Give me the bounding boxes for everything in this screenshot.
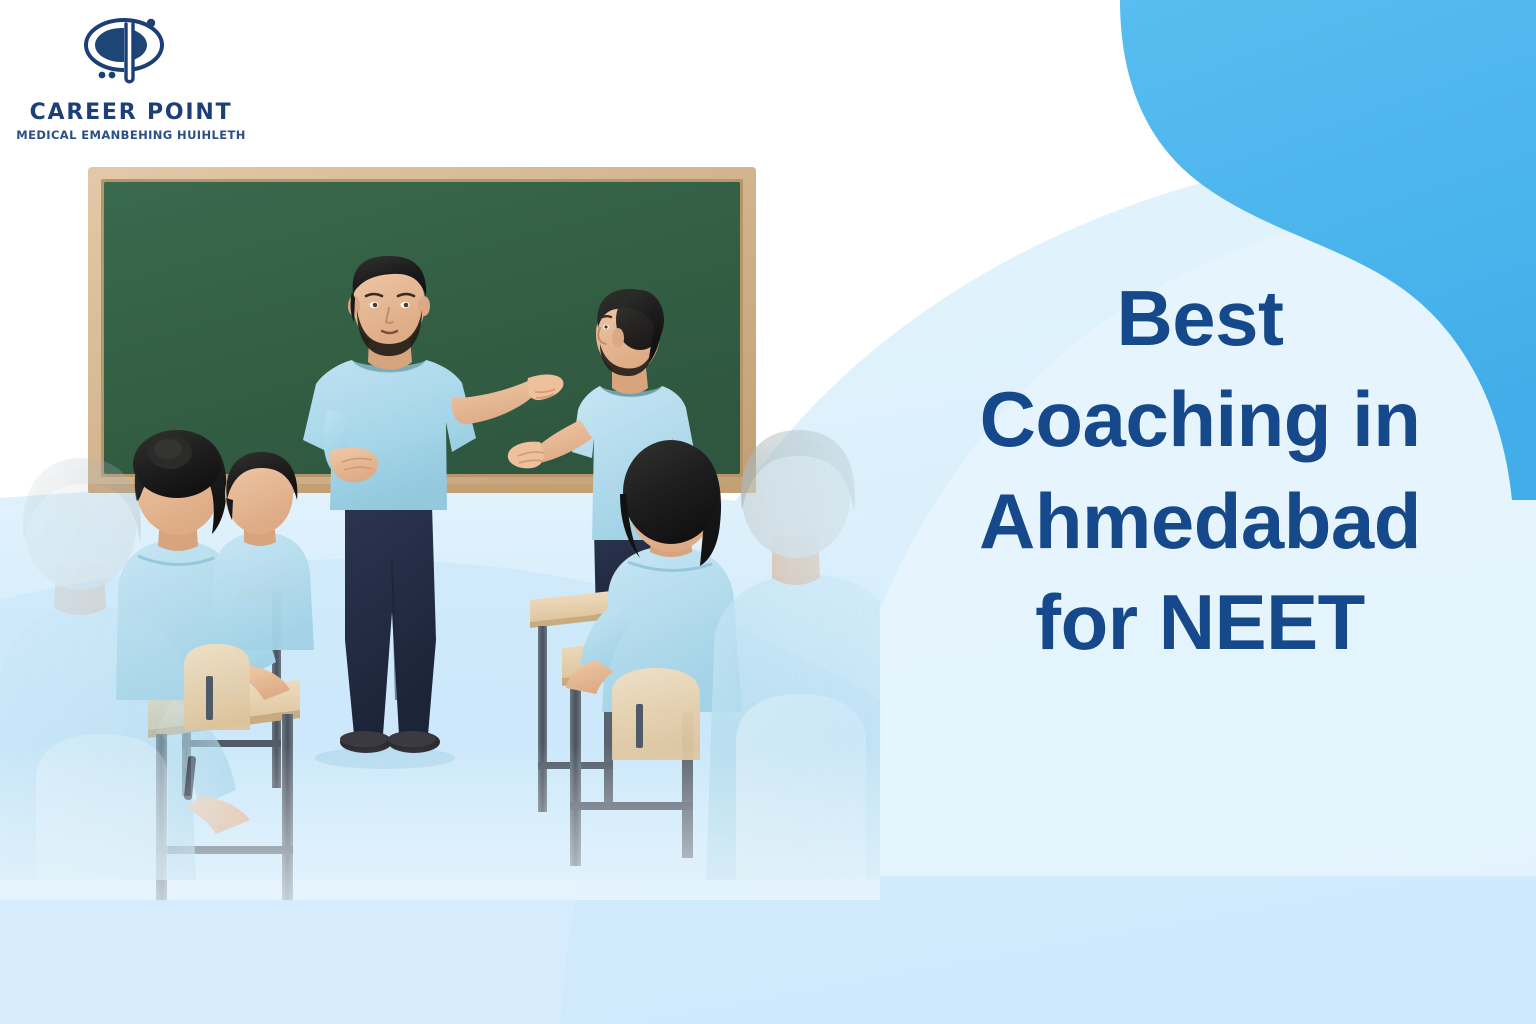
classroom-illustration (0, 0, 880, 900)
headline-line-4: for NEET (880, 572, 1520, 673)
poster-canvas: CAREER POINT MEDICAL EMANBEHING HUIHLETH (0, 0, 1536, 1024)
headline-line-3: Ahmedabad (880, 471, 1520, 572)
page-title: Best Coaching in Ahmedabad for NEET (880, 268, 1520, 674)
headline-line-2: Coaching in (880, 369, 1520, 470)
headline-line-1: Best (880, 268, 1520, 369)
